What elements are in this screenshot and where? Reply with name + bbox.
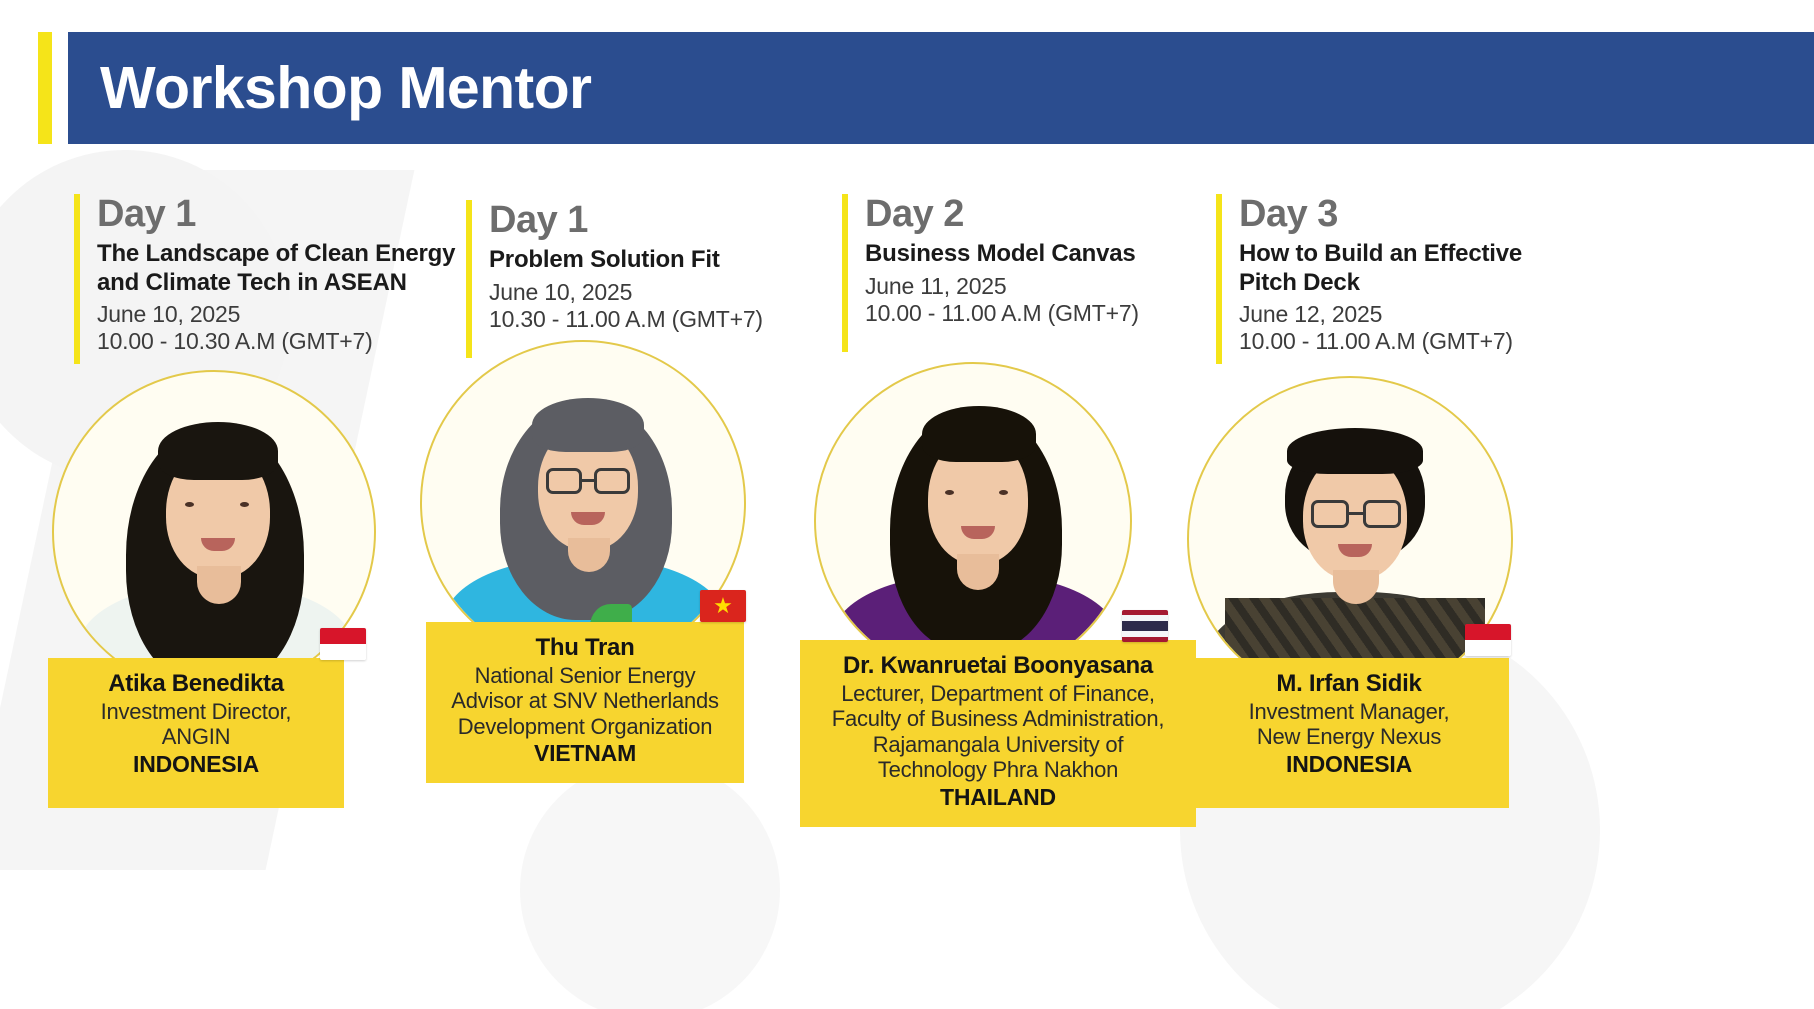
mentor-photo-2 — [422, 342, 744, 664]
mentor-name-4: M. Irfan Sidik — [1205, 670, 1493, 699]
session-topic-3: Business Model Canvas — [865, 240, 1139, 268]
thailand-flag-icon — [1122, 610, 1168, 642]
session-time-1: 10.00 - 10.30 A.M (GMT+7) — [97, 328, 474, 356]
mentor-name-2: Thu Tran — [442, 634, 728, 663]
header-gap — [52, 32, 68, 144]
session-day-3: Day 2 — [865, 194, 1139, 234]
mentor-role-2-line-1: National Senior Energy — [442, 663, 728, 689]
session-block-1: Day 1 The Landscape of Clean Energy and … — [74, 194, 474, 364]
session-header-row: Day 1 The Landscape of Clean Energy and … — [0, 186, 1814, 376]
page-title: Workshop Mentor — [100, 59, 591, 118]
session-topic-4: How to Build an Effective Pitch Deck — [1239, 240, 1546, 297]
session-time-2: 10.30 - 11.00 A.M (GMT+7) — [489, 306, 763, 334]
mentor-role-1-line-2: ANGIN — [64, 724, 328, 750]
session-topic-2: Problem Solution Fit — [489, 246, 763, 274]
mentor-role-1-line-1: Investment Director, — [64, 699, 328, 725]
mentor-name-card-1: Atika Benedikta Investment Director, ANG… — [48, 658, 344, 808]
mentor-name-1: Atika Benedikta — [64, 670, 328, 699]
mentor-country-4: INDONESIA — [1205, 750, 1493, 778]
mentor-role-3-line-3: Rajamangala University of — [816, 732, 1180, 758]
session-time-4: 10.00 - 11.00 A.M (GMT+7) — [1239, 328, 1546, 356]
session-date-4: June 12, 2025 — [1239, 301, 1546, 329]
session-day-2: Day 1 — [489, 200, 763, 240]
mentor-portrait-ring-3 — [814, 362, 1132, 680]
session-day-4: Day 3 — [1239, 194, 1546, 234]
slide-canvas: Workshop Mentor Day 1 The Landscape of C… — [0, 0, 1814, 1009]
mentor-country-2: VIETNAM — [442, 739, 728, 767]
mentor-role-2-line-3: Development Organization — [442, 714, 728, 740]
session-time-3: 10.00 - 11.00 A.M (GMT+7) — [865, 300, 1139, 328]
mentor-role-2-line-2: Advisor at SNV Netherlands — [442, 688, 728, 714]
mentor-portrait-ring-2 — [420, 340, 746, 666]
mentor-role-4-line-1: Investment Manager, — [1205, 699, 1493, 725]
session-block-4: Day 3 How to Build an Effective Pitch De… — [1216, 194, 1546, 364]
mentor-country-1: INDONESIA — [64, 750, 328, 778]
session-topic-1: The Landscape of Clean Energy and Climat… — [97, 240, 474, 297]
mentor-photo-4 — [1189, 378, 1511, 700]
indonesia-flag-icon — [1465, 624, 1511, 656]
header-accent-bar — [38, 32, 52, 144]
mentor-role-3-line-2: Faculty of Business Administration, — [816, 706, 1180, 732]
mentor-name-card-3: Dr. Kwanruetai Boonyasana Lecturer, Depa… — [800, 640, 1196, 827]
mentor-role-4-line-2: New Energy Nexus — [1205, 724, 1493, 750]
session-block-3: Day 2 Business Model Canvas June 11, 202… — [842, 194, 1202, 352]
mentor-name-3: Dr. Kwanruetai Boonyasana — [816, 652, 1180, 681]
session-date-2: June 10, 2025 — [489, 279, 763, 307]
header-banner: Workshop Mentor — [68, 32, 1814, 144]
session-date-1: June 10, 2025 — [97, 301, 474, 329]
mentor-role-3-line-4: Technology Phra Nakhon — [816, 757, 1180, 783]
session-day-1: Day 1 — [97, 194, 474, 234]
mentor-role-3-line-1: Lecturer, Department of Finance, — [816, 681, 1180, 707]
session-date-3: June 11, 2025 — [865, 273, 1139, 301]
mentor-name-card-4: M. Irfan Sidik Investment Manager, New E… — [1189, 658, 1509, 808]
mentor-country-3: THAILAND — [816, 783, 1180, 811]
indonesia-flag-icon — [320, 628, 366, 660]
mentor-photo-3 — [816, 364, 1130, 678]
session-block-2: Day 1 Problem Solution Fit June 10, 2025… — [466, 200, 826, 358]
vietnam-flag-icon: ★ — [700, 590, 746, 622]
mentor-row: Atika Benedikta Investment Director, ANG… — [0, 340, 1814, 900]
mentor-name-card-2: Thu Tran National Senior Energy Advisor … — [426, 622, 744, 783]
header: Workshop Mentor — [38, 32, 1814, 144]
